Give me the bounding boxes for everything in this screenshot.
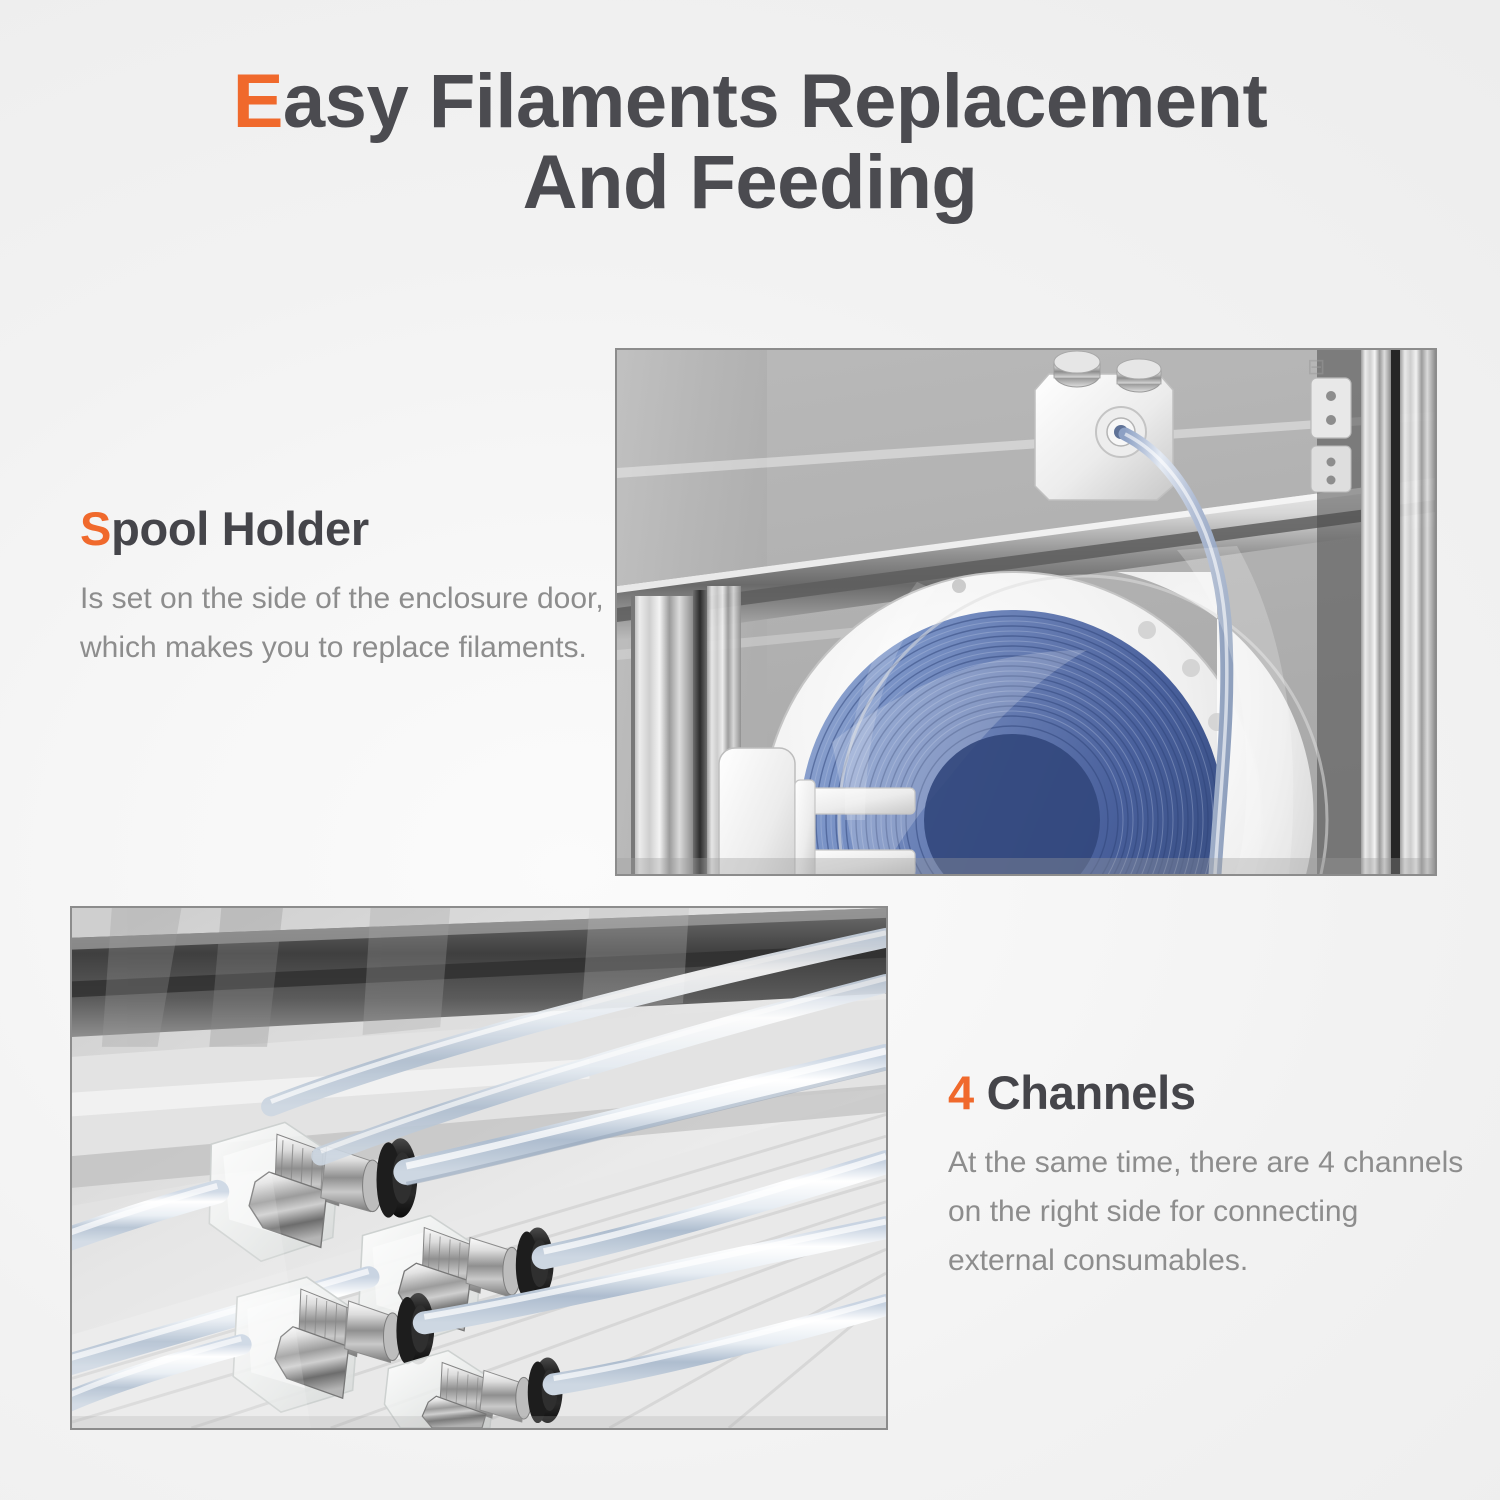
- feature-heading-rest-channels: Channels: [974, 1066, 1196, 1119]
- spool-holder-illustration: ⊟: [617, 350, 1435, 874]
- spool-holder-photo: ⊟: [615, 348, 1437, 876]
- svg-text:⊟: ⊟: [1307, 354, 1325, 379]
- feature-body-four-channels: At the same time, there are 4 channels o…: [948, 1139, 1468, 1285]
- feature-block-spool-holder: Spool Holder Is set on the side of the e…: [80, 504, 620, 673]
- feature-heading-accent-char-spool: S: [80, 502, 111, 555]
- page-title-line-2: And Feeding: [0, 143, 1500, 224]
- four-channels-illustration: [72, 908, 886, 1428]
- feature-body-spool-holder: Is set on the side of the enclosure door…: [80, 575, 620, 672]
- page-title-line-1: Easy Filaments Replacement: [0, 62, 1500, 143]
- feature-heading-four-channels: 4 Channels: [948, 1068, 1468, 1117]
- title-accent-letter: E: [233, 59, 283, 144]
- page-title: Easy Filaments Replacement And Feeding: [0, 62, 1500, 223]
- feature-heading-accent-char-channels: 4: [948, 1066, 974, 1119]
- four-channels-photo: [70, 906, 888, 1430]
- feature-heading-rest-spool: pool Holder: [111, 502, 369, 555]
- title-line-1-rest: asy Filaments Replacement: [283, 59, 1267, 144]
- feature-block-four-channels: 4 Channels At the same time, there are 4…: [948, 1068, 1468, 1285]
- feature-heading-spool-holder: Spool Holder: [80, 504, 620, 553]
